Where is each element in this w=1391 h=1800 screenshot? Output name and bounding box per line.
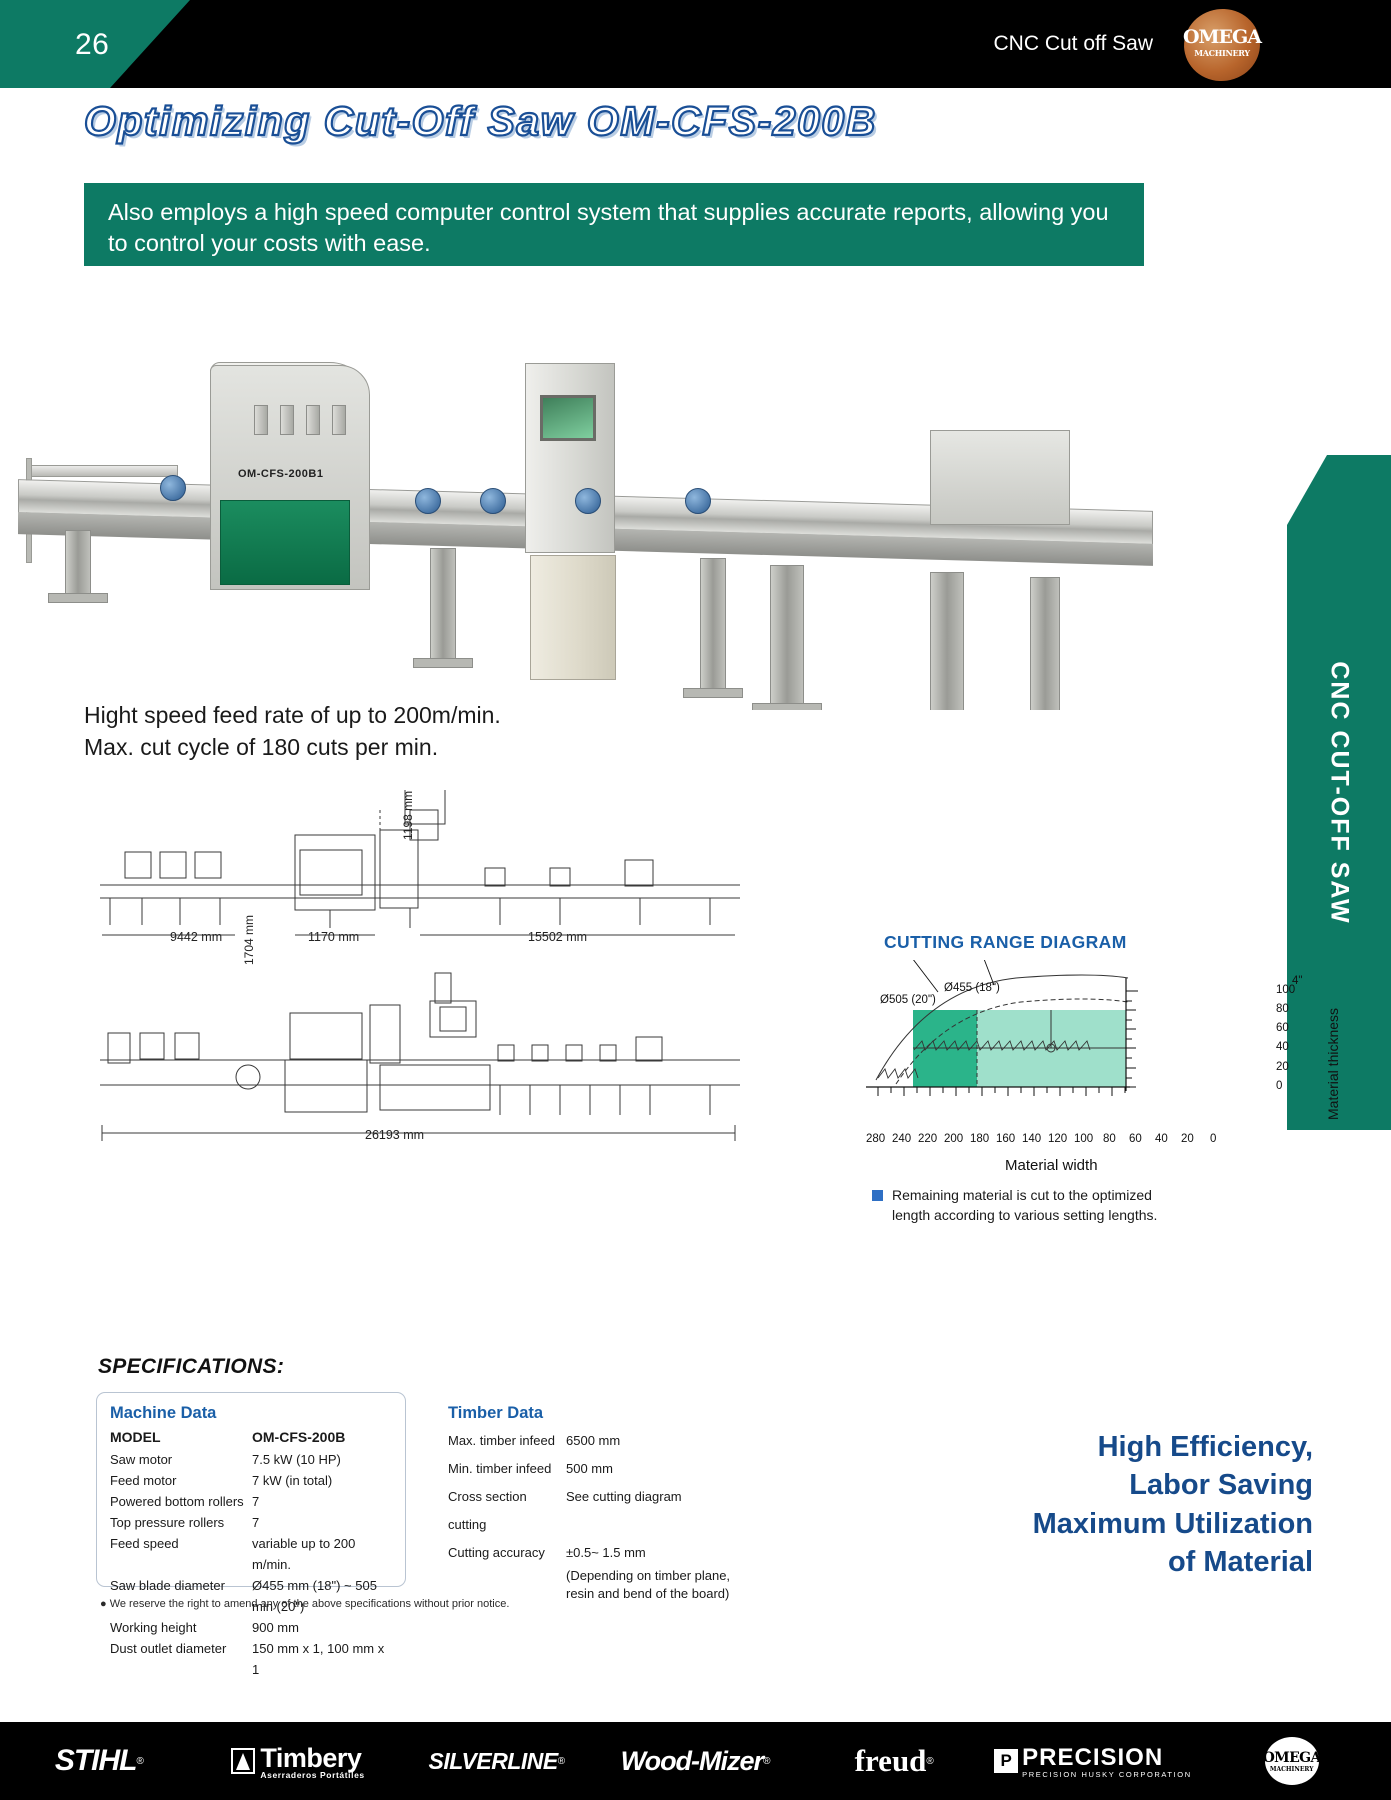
- precision-p-badge-icon: P: [994, 1749, 1018, 1773]
- chart-y-axis-label: Material thickness: [1325, 1008, 1341, 1120]
- chart-xtick: 40: [1155, 1133, 1168, 1145]
- photo-pressure-roller: [415, 488, 441, 514]
- omega-footer-name: OMEGA: [1263, 1750, 1321, 1766]
- woodmizer-registered-mark: ®: [763, 1756, 770, 1767]
- photo-support-leg: [65, 530, 91, 595]
- plan-drawing: [80, 965, 770, 1150]
- spec-key: Top pressure rollers: [110, 1512, 252, 1533]
- photo-control-cabinet: [525, 363, 615, 553]
- elevation-dim-mid: 1170 mm: [308, 930, 359, 944]
- tagline-line-4: of Material: [1033, 1543, 1313, 1581]
- footer-brand-woodmizer: Wood-Mizer®: [596, 1746, 795, 1777]
- spec-value: variable up to 200 m/min.: [252, 1533, 395, 1575]
- photo-support-base: [683, 688, 743, 698]
- spec-key: Cutting accuracy: [448, 1539, 566, 1567]
- tagline-block: High Efficiency, Labor Saving Maximum Ut…: [1033, 1428, 1313, 1581]
- page-header: 26 CNC Cut off Saw OMEGA MACHINERY: [0, 0, 1391, 88]
- chart-xtick: 180: [970, 1133, 989, 1145]
- omega-logo-name: OMEGA: [1163, 26, 1281, 48]
- table-row: MODEL OM-CFS-200B: [110, 1426, 395, 1449]
- omega-footer-logo-icon: OMEGA MACHINERY: [1265, 1737, 1319, 1785]
- omega-logo-sub: MACHINERY: [1163, 48, 1281, 58]
- footer-brand-bar: STIHL® Timbery Aserraderos Portátiles SI…: [0, 1722, 1391, 1800]
- tagline-line-1: High Efficiency,: [1033, 1428, 1313, 1466]
- spec-value: Ø455 mm (18") ~ 505 min (20"): [252, 1575, 395, 1617]
- freud-logo-text: freud: [855, 1743, 927, 1779]
- side-tab-label: CNC CUT-OFF SAW: [1325, 661, 1354, 924]
- photo-lower-cabinet: [530, 555, 616, 680]
- omega-logo-icon: OMEGA MACHINERY: [1163, 6, 1281, 84]
- spec-value: 7.5 kW (10 HP): [252, 1449, 395, 1470]
- header-section-title: CNC Cut off Saw: [994, 32, 1154, 56]
- elevation-dim-left: 9442 mm: [170, 930, 222, 944]
- machine-data-title: Machine Data: [110, 1404, 395, 1423]
- footer-brand-omega: OMEGA MACHINERY: [1192, 1737, 1391, 1785]
- photo-support-base: [752, 703, 822, 710]
- table-row: Saw motor 7.5 kW (10 HP): [110, 1449, 395, 1470]
- precision-logo-sub: PRECISION HUSKY CORPORATION: [1022, 1770, 1192, 1779]
- tagline-line-2: Labor Saving: [1033, 1466, 1313, 1504]
- photo-outfeed-head: [930, 430, 1070, 525]
- spec-value: OM-CFS-200B: [252, 1426, 395, 1449]
- timbery-logo-text: Timbery: [260, 1743, 361, 1773]
- plan-height-label: 1704 mm: [242, 915, 256, 965]
- photo-pressure-rod: [254, 405, 268, 435]
- photo-infeed-conveyor: [28, 465, 178, 477]
- chart-note: Remaining material is cut to the optimiz…: [872, 1185, 1182, 1226]
- catalog-page: 26 CNC Cut off Saw OMEGA MACHINERY Optim…: [0, 0, 1391, 1800]
- spec-key: Saw motor: [110, 1449, 252, 1470]
- chart-xtick: 60: [1129, 1133, 1142, 1145]
- machine-data-table: Machine Data MODEL OM-CFS-200B Saw motor…: [110, 1404, 395, 1680]
- table-row: Dust outlet diameter 150 mm x 1, 100 mm …: [110, 1638, 395, 1680]
- timber-data-title: Timber Data: [448, 1404, 748, 1423]
- elevation-dim-right: 15502 mm: [528, 930, 587, 944]
- chart-xtick: 220: [918, 1133, 937, 1145]
- spec-key: Feed motor: [110, 1470, 252, 1491]
- chart-xtick: 0: [1210, 1133, 1216, 1145]
- chart-ytop-annotation: 4": [1292, 975, 1302, 987]
- spec-key: MODEL: [110, 1426, 252, 1449]
- freud-registered-mark: ®: [926, 1756, 933, 1767]
- spec-key: Saw blade diameter: [110, 1575, 252, 1617]
- table-row: Saw blade diameter Ø455 mm (18") ~ 505 m…: [110, 1575, 395, 1617]
- intro-banner: Also employs a high speed computer contr…: [84, 183, 1144, 266]
- specifications-heading: SPECIFICATIONS:: [98, 1355, 284, 1379]
- spec-value: 7: [252, 1512, 395, 1533]
- footer-brand-stihl: STIHL®: [0, 1744, 199, 1778]
- spec-value: ±0.5~ 1.5 mm: [566, 1539, 748, 1567]
- spec-value: 7 kW (in total): [252, 1470, 395, 1491]
- chart-xtick: 200: [944, 1133, 963, 1145]
- chart-ytick: 40: [1276, 1041, 1289, 1053]
- stihl-registered-mark: ®: [137, 1756, 144, 1767]
- chart-ytick: 20: [1276, 1061, 1289, 1073]
- table-row: Cross section cutting See cutting diagra…: [448, 1483, 748, 1539]
- chart-xtick: 20: [1181, 1133, 1194, 1145]
- photo-pressure-roller: [685, 488, 711, 514]
- table-row: Top pressure rollers 7: [110, 1512, 395, 1533]
- timber-data-table: Timber Data Max. timber infeed 6500 mm M…: [448, 1404, 748, 1603]
- spec-key: Powered bottom rollers: [110, 1491, 252, 1512]
- spec-value: 7: [252, 1491, 395, 1512]
- plan-dim-total: 26193 mm: [365, 1128, 424, 1142]
- spec-key: Dust outlet diameter: [110, 1638, 252, 1680]
- blade-label-455: Ø455 (18"): [944, 982, 1000, 994]
- feed-rate-line-1: Hight speed feed rate of up to 200m/min.: [84, 700, 501, 732]
- chart-ytick: 80: [1276, 1003, 1289, 1015]
- footer-brand-silverline: SILVERLINE®: [397, 1748, 596, 1775]
- chart-xtick: 240: [892, 1133, 911, 1145]
- photo-support-leg: [430, 548, 456, 660]
- footer-brand-freud: freud®: [795, 1743, 994, 1779]
- photo-pressure-roller: [575, 488, 601, 514]
- photo-green-access-door: [220, 500, 350, 585]
- spec-value: 500 mm: [566, 1455, 748, 1483]
- timbery-tree-icon: [231, 1748, 255, 1774]
- chart-xtick: 160: [996, 1133, 1015, 1145]
- table-row: Working height 900 mm: [110, 1617, 395, 1638]
- photo-hmi-screen: [540, 395, 596, 441]
- cutting-range-title: CUTTING RANGE DIAGRAM: [884, 932, 1127, 953]
- elevation-height-label: 1198 mm: [401, 791, 415, 840]
- photo-machine-label: OM-CFS-200B1: [238, 468, 323, 480]
- photo-support-leg: [770, 565, 804, 705]
- page-number: 26: [75, 28, 109, 62]
- silverline-registered-mark: ®: [558, 1756, 565, 1767]
- table-row: Cutting accuracy ±0.5~ 1.5 mm: [448, 1539, 748, 1567]
- footer-brand-timbery: Timbery Aserraderos Portátiles: [199, 1743, 398, 1780]
- table-row: Powered bottom rollers 7: [110, 1491, 395, 1512]
- spec-key: Min. timber infeed: [448, 1455, 566, 1483]
- timbery-logo-sub: Aserraderos Portátiles: [260, 1770, 364, 1780]
- spec-key: Feed speed: [110, 1533, 252, 1575]
- photo-support-base: [413, 658, 473, 668]
- chart-ytick: 0: [1276, 1080, 1282, 1092]
- intro-banner-text: Also employs a high speed computer contr…: [108, 197, 1124, 259]
- blade-label-505: Ø505 (20"): [880, 994, 936, 1006]
- chart-xtick: 280: [866, 1133, 885, 1145]
- table-row: Min. timber infeed 500 mm: [448, 1455, 748, 1483]
- cutting-accuracy-note-2: resin and bend of the board): [566, 1585, 748, 1603]
- cutting-range-chart: [866, 960, 1326, 1160]
- spec-value: See cutting diagram: [566, 1483, 748, 1539]
- photo-pressure-rod-group: [250, 400, 360, 440]
- spec-value: 6500 mm: [566, 1427, 748, 1455]
- chart-x-axis-label: Material width: [1005, 1157, 1098, 1174]
- table-row: Max. timber infeed 6500 mm: [448, 1427, 748, 1455]
- chart-ytick: 60: [1276, 1022, 1289, 1034]
- spec-value: 150 mm x 1, 100 mm x 1: [252, 1638, 395, 1680]
- spec-value: 900 mm: [252, 1617, 395, 1638]
- spec-key: Working height: [110, 1617, 252, 1638]
- specifications-disclaimer: ● We reserve the right to amend any of t…: [100, 1598, 509, 1610]
- photo-support-leg: [700, 558, 726, 690]
- footer-brand-precision: P PRECISION PRECISION HUSKY CORPORATION: [994, 1744, 1193, 1779]
- photo-pressure-rod: [306, 405, 320, 435]
- table-row: Feed motor 7 kW (in total): [110, 1470, 395, 1491]
- tagline-line-3: Maximum Utilization: [1033, 1505, 1313, 1543]
- woodmizer-logo-text: Wood-Mizer: [621, 1746, 763, 1777]
- feed-rate-text: Hight speed feed rate of up to 200m/min.…: [84, 700, 501, 763]
- chart-xtick: 140: [1022, 1133, 1041, 1145]
- page-title: Optimizing Cut-Off Saw OM-CFS-200B: [84, 98, 877, 145]
- photo-pressure-rod: [280, 405, 294, 435]
- photo-pressure-roller: [160, 475, 186, 501]
- chart-xtick: 100: [1074, 1133, 1093, 1145]
- photo-support-leg: [930, 572, 964, 710]
- chart-xtick: 80: [1103, 1133, 1116, 1145]
- photo-support-leg: [1030, 577, 1060, 710]
- silverline-logo-text: SILVERLINE: [429, 1748, 558, 1775]
- photo-pressure-roller: [480, 488, 506, 514]
- omega-footer-sub: MACHINERY: [1270, 1766, 1314, 1773]
- cutting-accuracy-note-1: (Depending on timber plane,: [566, 1567, 748, 1585]
- table-row: Feed speed variable up to 200 m/min.: [110, 1533, 395, 1575]
- stihl-logo-text: STIHL: [55, 1744, 137, 1778]
- photo-pressure-rod: [332, 405, 346, 435]
- machine-photo: OM-CFS-200B1: [10, 290, 1160, 710]
- precision-logo-text: PRECISION: [1022, 1744, 1163, 1771]
- feed-rate-line-2: Max. cut cycle of 180 cuts per min.: [84, 732, 501, 764]
- spec-key: Max. timber infeed: [448, 1427, 566, 1455]
- chart-xtick: 120: [1048, 1133, 1067, 1145]
- spec-key: Cross section cutting: [448, 1483, 566, 1539]
- photo-support-base: [48, 593, 108, 603]
